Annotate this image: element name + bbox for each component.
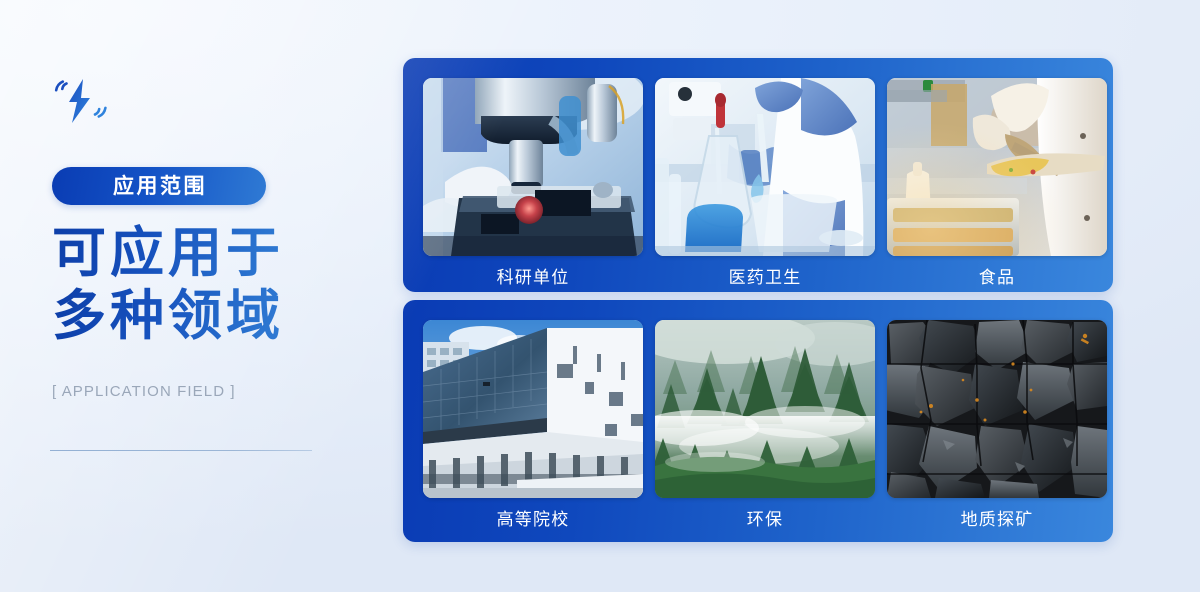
gallery-cell[interactable]: 科研单位 — [423, 78, 643, 292]
chef-serving-food-photo — [887, 78, 1107, 256]
section-badge: 应用范围 — [52, 167, 266, 205]
gallery-cell[interactable]: 高等院校 — [423, 320, 643, 542]
left-content-column: 应用范围 可应用于 多种领域 [ APPLICATION FIELD ] — [50, 0, 390, 592]
gallery-cell[interactable]: 食品 — [887, 78, 1107, 292]
gallery-row-2: 高等院校 — [403, 300, 1113, 542]
page-title: 可应用于 多种领域 — [52, 222, 382, 347]
headline-line-1: 可应用于 — [52, 222, 382, 285]
gallery-row-1: 科研单位 — [403, 58, 1113, 292]
divider-line — [50, 450, 312, 451]
lab-glassware-pipette-photo — [655, 78, 875, 256]
misty-conifer-forest-photo — [655, 320, 875, 498]
gallery-cell[interactable]: 医药卫生 — [655, 78, 875, 292]
gallery-cell-caption: 环保 — [747, 511, 783, 528]
coal-rocks-photo — [887, 320, 1107, 498]
gallery-cell[interactable]: 环保 — [655, 320, 875, 542]
gallery-cell[interactable]: 地质探矿 — [887, 320, 1107, 542]
application-field-banner: 应用范围 可应用于 多种领域 [ APPLICATION FIELD ] — [0, 0, 1200, 592]
lightning-bolt-signal-icon — [52, 76, 110, 126]
headline-line-2: 多种领域 — [52, 285, 382, 348]
microscope-laboratory-photo — [423, 78, 643, 256]
modern-university-building-photo — [423, 320, 643, 498]
section-badge-label: 应用范围 — [111, 176, 207, 197]
gallery-cell-caption: 食品 — [979, 269, 1015, 286]
gallery-cell-caption: 科研单位 — [497, 269, 570, 286]
gallery-cell-caption: 地质探矿 — [961, 511, 1034, 528]
subtitle-english: [ APPLICATION FIELD ] — [52, 383, 236, 400]
gallery-cell-caption: 高等院校 — [497, 511, 570, 528]
gallery-cell-caption: 医药卫生 — [729, 269, 802, 286]
